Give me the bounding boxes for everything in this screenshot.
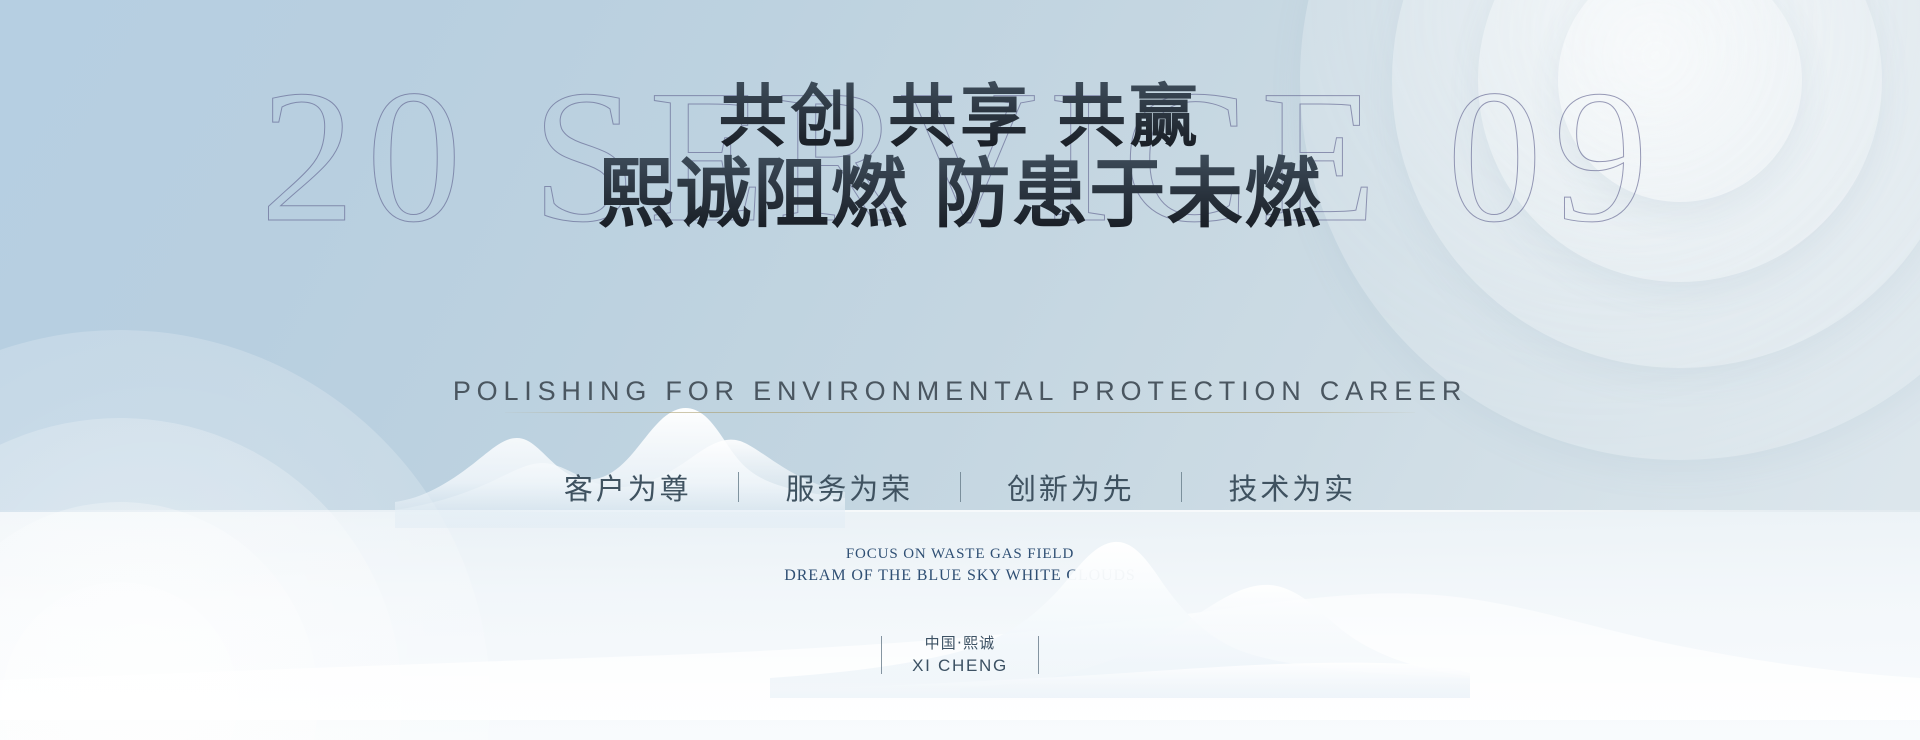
headline-block: 共创共享共赢 熙诚阻燃防患于未燃 (0, 78, 1920, 239)
value-separator (738, 472, 739, 502)
signature-text: 中国·熙诚 XI CHENG (912, 633, 1008, 679)
slogan-underline (505, 412, 1415, 413)
headline-word-gongchuang: 共创 (719, 79, 862, 155)
value-item-1: 客户为尊 (564, 466, 692, 508)
poster-canvas: 20 SERVICE 09 共创共享共赢 熙诚阻燃防患于未燃 POLISHING… (0, 0, 1920, 740)
foreground-plate-edge (0, 510, 1920, 512)
headline-line-1: 共创共享共赢 (0, 78, 1920, 157)
signature-english: XI CHENG (912, 656, 1008, 675)
headline-word-gongxiang: 共享 (888, 79, 1031, 155)
values-row: 客户为尊 服务为荣 创新为先 技术为实 (0, 466, 1920, 508)
microtext-block: FOCUS ON WASTE GAS FIELD DREAM OF THE BL… (0, 544, 1920, 588)
headline-word-gongying: 共赢 (1058, 79, 1201, 155)
microtext-line-2: DREAM OF THE BLUE SKY WHITE CLOUDS (0, 565, 1920, 588)
microtext-line-1: FOCUS ON WASTE GAS FIELD (0, 544, 1920, 565)
cloud-mountain-left (395, 398, 845, 528)
signature-bar-left (881, 636, 882, 674)
value-separator (960, 472, 961, 502)
headline-safety-phrase: 防患于未燃 (934, 153, 1322, 237)
value-item-2: 服务为荣 (785, 466, 913, 508)
headline-line-2: 熙诚阻燃防患于未燃 (0, 151, 1920, 239)
value-item-4: 技术为实 (1228, 466, 1356, 508)
headline-brand-phrase: 熙诚阻燃 (598, 153, 908, 237)
value-separator (1181, 472, 1182, 502)
english-slogan: POLISHING FOR ENVIRONMENTAL PROTECTION C… (0, 376, 1920, 407)
signature-chinese: 中国·熙诚 (925, 634, 996, 652)
signature-bar-right (1038, 636, 1039, 674)
brand-signature: 中国·熙诚 XI CHENG (0, 633, 1920, 679)
value-item-3: 创新为先 (1007, 466, 1135, 508)
